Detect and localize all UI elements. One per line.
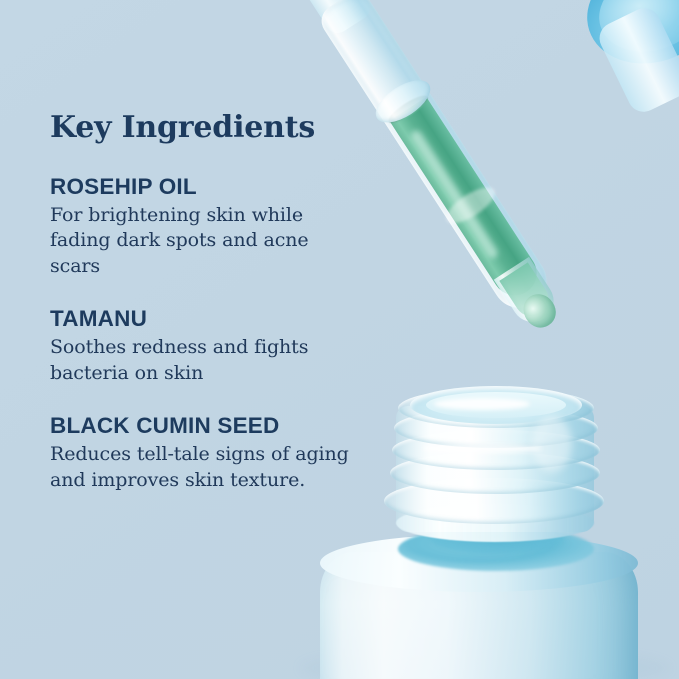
neck-thread-ring xyxy=(394,408,598,448)
ingredients-text-column: Key Ingredients ROSEHIP OIL For brighten… xyxy=(50,112,360,493)
bottle-shoulder-shading xyxy=(430,522,564,554)
ingredient-item-tamanu: TAMANU Soothes redness and fights bacter… xyxy=(50,306,360,386)
pipette-glass-step xyxy=(369,72,437,131)
ingredient-description: For brightening skin while fading dark s… xyxy=(50,203,360,279)
ingredient-name: BLACK CUMIN SEED xyxy=(50,413,360,440)
pipette-tip xyxy=(494,257,562,330)
serum-meniscus xyxy=(385,91,431,127)
bottle-shoulder xyxy=(398,527,594,571)
bottle-mouth-inner xyxy=(426,392,566,418)
neck-base xyxy=(396,406,594,532)
neck-highlight xyxy=(422,444,542,453)
bottle-top-surface xyxy=(320,534,638,592)
ingredient-item-black-cumin-seed: BLACK CUMIN SEED Reduces tell-tale signs… xyxy=(50,413,360,493)
bottle-body xyxy=(320,552,638,679)
dropper-cap-stem xyxy=(594,3,679,117)
dropper-cap-rim xyxy=(588,0,679,65)
page-title: Key Ingredients xyxy=(50,112,360,144)
serum-highlight xyxy=(409,128,500,260)
pipette-glass-highlight xyxy=(441,181,500,230)
product-ingredients-infographic: Key Ingredients ROSEHIP OIL For brighten… xyxy=(0,0,679,679)
ingredient-name: ROSEHIP OIL xyxy=(50,174,360,201)
neck-collar xyxy=(396,504,594,542)
neck-thread-ring xyxy=(392,430,600,470)
bottle-neck xyxy=(382,386,608,554)
neck-highlight xyxy=(434,398,530,410)
ingredient-item-rosehip-oil: ROSEHIP OIL For brightening skin while f… xyxy=(50,174,360,279)
dropper-cap xyxy=(573,0,679,80)
ingredient-description: Reduces tell-tale signs of aging and imp… xyxy=(50,442,360,493)
pipette-bulb-neck xyxy=(300,0,374,38)
neck-highlight xyxy=(532,416,572,472)
serum-liquid xyxy=(389,97,545,304)
ingredient-description: Soothes redness and fights bacteria on s… xyxy=(50,335,360,386)
ingredient-name: TAMANU xyxy=(50,306,360,333)
pipette-tip-serum xyxy=(499,262,555,322)
neck-thread-ring xyxy=(398,388,594,428)
serum-droplet xyxy=(517,288,562,333)
neck-thread-ring xyxy=(384,478,604,524)
bottle-mouth xyxy=(410,386,582,424)
bottle-shadow xyxy=(300,648,670,679)
neck-thread-ring xyxy=(390,452,600,494)
